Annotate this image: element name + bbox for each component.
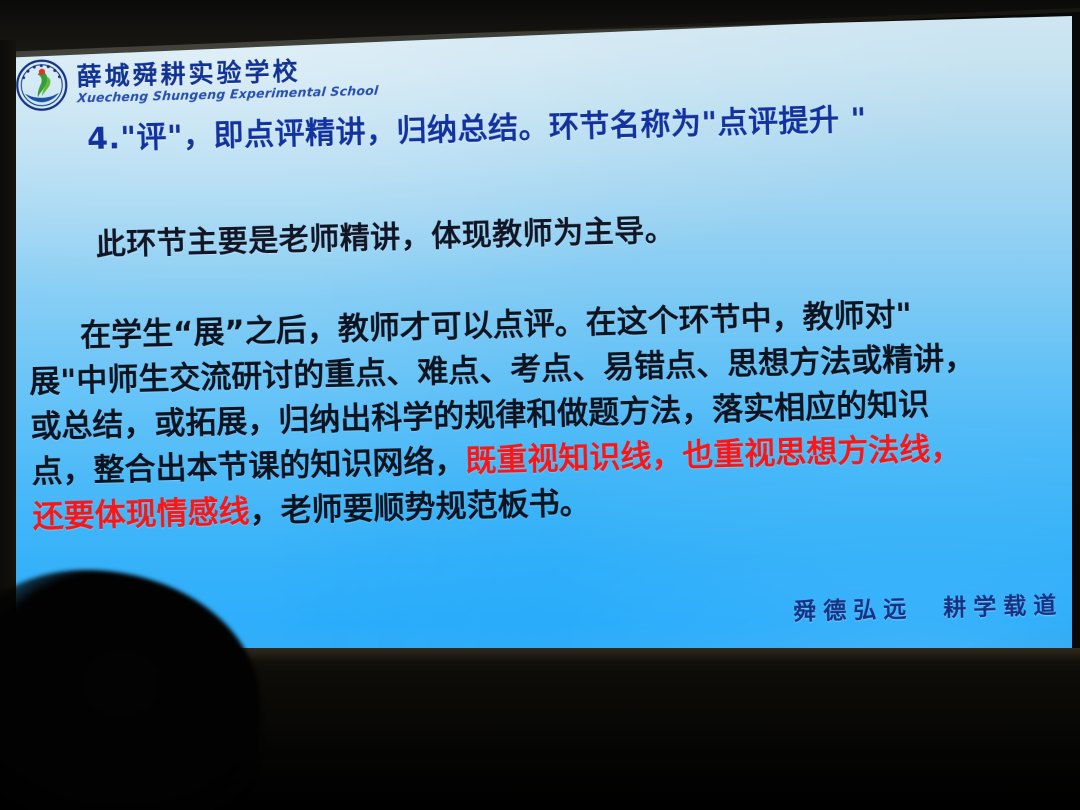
slide-body: 在学生“展”之后，教师才可以点评。在这个环节中，教师对"展"中师生交流研讨的重点… <box>28 289 1078 540</box>
body-line-5-run-1: 还要体现情感线 <box>32 494 250 535</box>
wall-left-edge <box>0 40 16 680</box>
slide-subtitle: 此环节主要是老师精讲，体现教师为主导。 <box>95 196 1036 264</box>
slide-content: 薛城舜耕实验学校 Xuecheng Shungeng Experimental … <box>10 0 1080 676</box>
photo-of-projected-slide: 薛城舜耕实验学校 Xuecheng Shungeng Experimental … <box>0 0 1080 810</box>
school-emblem-icon <box>15 59 68 112</box>
body-line-5-run-2: ，老师要顺势规范板书。 <box>249 485 591 530</box>
school-motto: 舜德弘远 耕学载道 <box>793 586 1064 627</box>
school-branding: 薛城舜耕实验学校 Xuecheng Shungeng Experimental … <box>15 51 379 112</box>
body-line-4-run-2: 既重视知识线，也重视思想方法线， <box>465 431 962 480</box>
projection-screen: 薛城舜耕实验学校 Xuecheng Shungeng Experimental … <box>10 16 1072 676</box>
body-line-4-run-1: 点，整合出本节课的知识网络， <box>31 444 466 491</box>
